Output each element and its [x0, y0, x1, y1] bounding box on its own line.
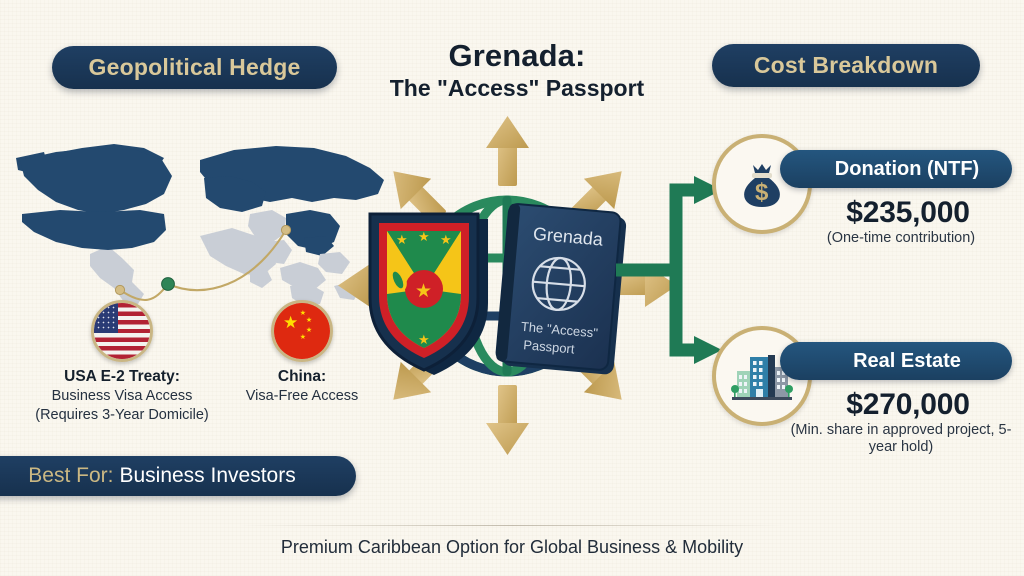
- cost-breakdown-label: Cost Breakdown: [754, 52, 938, 79]
- map-marker-usa: [115, 285, 124, 294]
- geopolitical-hedge-badge: Geopolitical Hedge: [52, 46, 337, 89]
- svg-text:★: ★: [415, 281, 432, 302]
- title-secondary: The "Access" Passport: [352, 75, 682, 103]
- cost-breakdown-badge: Cost Breakdown: [712, 44, 980, 87]
- page-title: Grenada: The "Access" Passport: [352, 40, 682, 102]
- benefit-usa-title: USA E-2 Treaty:: [22, 368, 222, 387]
- best-for-label: Best For:: [28, 464, 113, 488]
- real-estate-amount: $270,000: [804, 388, 1012, 422]
- svg-text:$: $: [755, 179, 769, 206]
- donation-amount: $235,000: [804, 196, 1012, 230]
- donation-note: (One-time contribution): [790, 230, 1012, 247]
- best-for-badge: Best For: Business Investors: [0, 456, 356, 496]
- map-marker-china: [281, 225, 290, 234]
- grenada-shield-icon: ★ ★ ★ ★ ★: [370, 214, 488, 375]
- real-estate-pill-label: Real Estate: [780, 342, 1012, 380]
- real-estate-note: (Min. share in approved project, 5-year …: [790, 422, 1012, 456]
- footer-divider: [238, 525, 786, 526]
- svg-text:★: ★: [396, 232, 408, 247]
- china-flag-icon: ★ ★ ★ ★ ★: [271, 300, 333, 362]
- footer-tagline: Premium Caribbean Option for Global Busi…: [162, 537, 862, 558]
- svg-text:★: ★: [418, 332, 430, 347]
- infographic-canvas: Geopolitical Hedge Cost Breakdown Grenad…: [0, 0, 1024, 576]
- benefit-usa: USA E-2 Treaty: Business Visa Access (Re…: [22, 300, 222, 425]
- usa-flag-icon: [91, 300, 153, 362]
- svg-text:★: ★: [440, 232, 452, 247]
- geopolitical-hedge-label: Geopolitical Hedge: [89, 54, 301, 81]
- map-marker-grenada: [162, 278, 175, 291]
- map-landmasses: [16, 144, 384, 306]
- arrow-north: [486, 116, 529, 186]
- best-for-value: Business Investors: [119, 464, 295, 488]
- title-primary: Grenada:: [352, 40, 682, 73]
- svg-text:★: ★: [418, 229, 430, 244]
- arrow-south: [486, 385, 529, 455]
- donation-pill-label: Donation (NTF): [780, 150, 1012, 188]
- passport-icon: Grenada The "Access" Passport: [496, 203, 628, 375]
- benefit-usa-sub1: Business Visa Access: [22, 387, 222, 406]
- benefit-usa-sub2: (Requires 3-Year Domicile): [22, 406, 222, 425]
